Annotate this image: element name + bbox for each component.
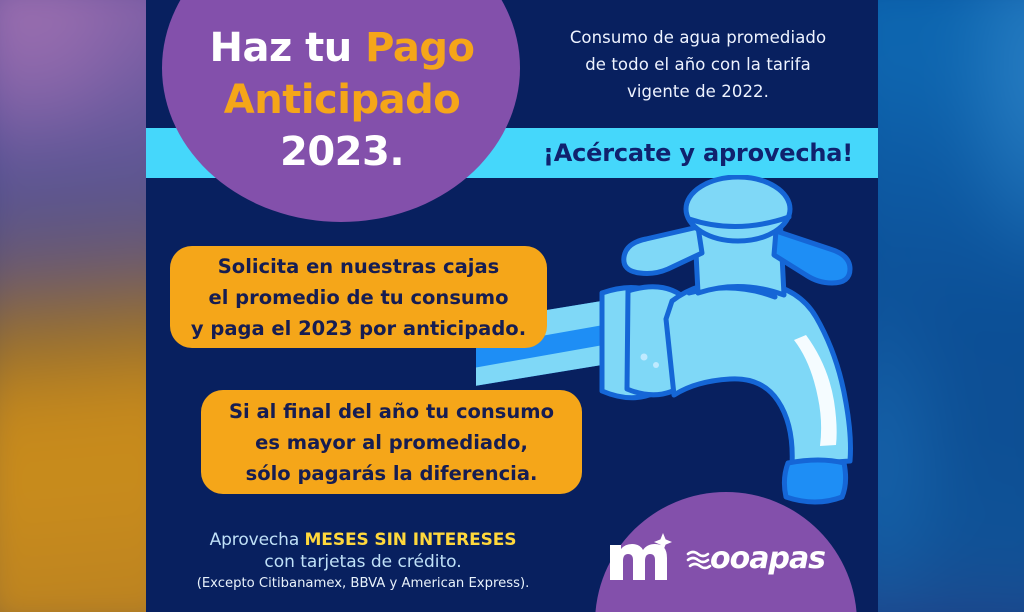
call-to-action-text: ¡Acércate y aprovecha! xyxy=(543,139,853,167)
callout-2-line-2: es mayor al promediado, xyxy=(229,427,554,458)
headline-line-1: Haz tu Pago xyxy=(164,22,520,74)
consumption-note: Consumo de agua promediado de todo el añ… xyxy=(526,24,870,105)
headline-line-2: Anticipado xyxy=(164,74,520,126)
installments-promo-disclaimer: (Excepto Citibanamex, BBVA y American Ex… xyxy=(158,574,568,593)
promo-poster: Haz tu Pago Anticipado 2023. Consumo de … xyxy=(146,0,878,612)
callout-1-text: Solicita en nuestras cajas el promedio d… xyxy=(191,251,526,344)
callout-card-instructions: Solicita en nuestras cajas el promedio d… xyxy=(170,246,547,348)
callout-2-line-3: sólo pagarás la diferencia. xyxy=(229,458,554,489)
installments-promo-prefix: Aprovecha xyxy=(210,530,305,550)
ooapas-logo-icon: ooapas xyxy=(686,535,832,577)
installments-promo: Aprovecha MESES SIN INTERESES con tarjet… xyxy=(158,529,568,593)
installments-promo-line-1: Aprovecha MESES SIN INTERESES xyxy=(158,529,568,551)
headline-white-text: Haz tu xyxy=(209,25,365,71)
callout-2-text: Si al final del año tu consumo es mayor … xyxy=(229,396,554,489)
installments-promo-highlight: MESES SIN INTERESES xyxy=(304,530,516,550)
poster-headline: Haz tu Pago Anticipado 2023. xyxy=(164,22,520,178)
callout-1-line-3: y paga el 2023 por anticipado. xyxy=(191,313,526,344)
installments-promo-line-2: con tarjetas de crédito. xyxy=(158,551,568,573)
callout-1-line-1: Solicita en nuestras cajas xyxy=(191,251,526,282)
call-to-action-banner: ¡Acércate y aprovecha! xyxy=(526,128,870,178)
consumption-note-line-2: de todo el año con la tarifa xyxy=(526,51,870,78)
headline-orange-text: Pago xyxy=(365,25,474,71)
morelia-logo-icon xyxy=(606,531,672,581)
consumption-note-line-3: vigente de 2022. xyxy=(526,78,870,105)
logo-group: ooapas xyxy=(606,528,850,584)
callout-card-difference: Si al final del año tu consumo es mayor … xyxy=(201,390,582,494)
headline-line-3: 2023. xyxy=(164,126,520,178)
callout-2-line-1: Si al final del año tu consumo xyxy=(229,396,554,427)
svg-text:ooapas: ooapas xyxy=(710,541,825,576)
callout-1-line-2: el promedio de tu consumo xyxy=(191,282,526,313)
consumption-note-line-1: Consumo de agua promediado xyxy=(526,24,870,51)
screenshot-stage: Haz tu Pago Anticipado 2023. Consumo de … xyxy=(0,0,1024,612)
